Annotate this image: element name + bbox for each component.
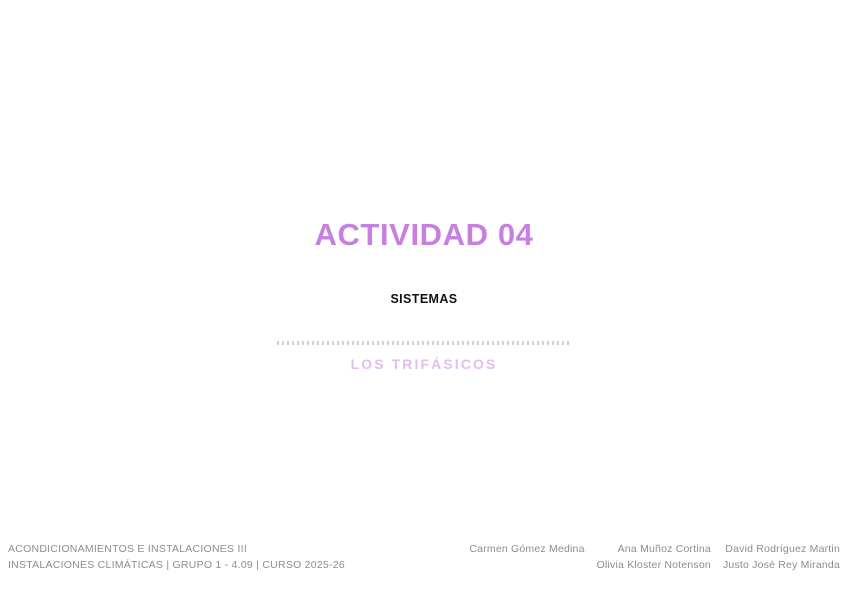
author-name: David Rodríguez Martin [723,542,840,558]
author-column-3: David Rodríguez Martin Justo José Rey Mi… [711,542,840,573]
author-column-2: Ana Muñoz Cortina Olivia Kloster Notenso… [585,542,711,573]
author-name: Ana Muñoz Cortina [597,542,711,558]
page-title: ACTIVIDAD 04 [0,218,848,252]
author-name: Olivia Kloster Notenson [597,558,711,574]
dotted-divider-icon [277,341,571,345]
page-subtitle: SISTEMAS [0,252,848,306]
tagline-text: LOS TRIFÁSICOS [0,356,848,372]
footer-course-line-2: INSTALACIONES CLIMÁTICAS | GRUPO 1 - 4.0… [8,558,345,574]
footer-course-line-1: ACONDICIONAMIENTOS E INSTALACIONES III [8,542,345,558]
author-column-1: Carmen Gómez Medina [457,542,584,573]
author-name: Carmen Gómez Medina [469,542,584,558]
footer: ACONDICIONAMIENTOS E INSTALACIONES III I… [0,542,848,576]
slide-canvas: ACTIVIDAD 04 SISTEMAS LOS TRIFÁSICOS ACO… [0,0,848,600]
title-block: ACTIVIDAD 04 SISTEMAS [0,218,848,306]
footer-course-info: ACONDICIONAMIENTOS E INSTALACIONES III I… [8,542,345,573]
footer-authors: Carmen Gómez Medina Ana Muñoz Cortina Ol… [457,542,840,573]
divider-container [0,341,848,345]
author-name: Justo José Rey Miranda [723,558,840,574]
